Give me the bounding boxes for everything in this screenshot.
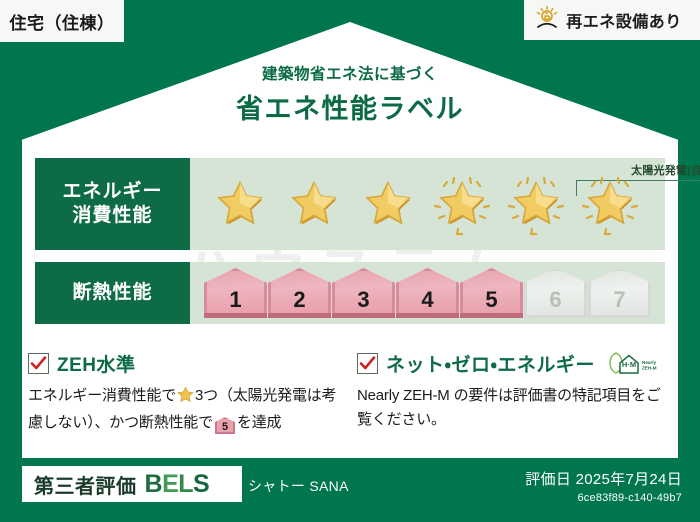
svg-text:ZEH-M: ZEH-M: [642, 365, 657, 370]
note-zeh-title: ZEH水準: [57, 350, 136, 377]
insulation-grade-4: 4: [396, 268, 459, 318]
document-id: 6ce83f89-c140-49b7: [525, 492, 682, 504]
note-zeh-header: ZEH水準: [28, 350, 343, 377]
insulation-grade-group: 1234567: [190, 262, 651, 324]
bels-logo: BELS: [145, 470, 210, 499]
energy-label-line2: 消費性能: [72, 204, 152, 228]
note-zeh-body-pre: エネルギー消費性能で: [28, 387, 176, 404]
note-zeh-body-post: を達成: [237, 414, 281, 431]
evaluation-date-value: 2025年7月24日: [576, 471, 682, 488]
energy-star-icon: [204, 168, 276, 240]
energy-performance-label: エネルギー 消費性能: [35, 158, 190, 250]
checkmark-icon: [28, 353, 49, 374]
renewable-energy-badge: 再エネ設備あり: [524, 0, 700, 40]
solar-star-icon: [500, 168, 572, 240]
footer-meta: 評価日 2025年7月24日 6ce83f89-c140-49b7: [525, 468, 682, 504]
solar-star-icon: [426, 168, 498, 240]
third-party-eval-label: 第三者評価: [34, 470, 137, 499]
note-zeh-body: エネルギー消費性能で3つ（太陽光発電は考慮しない）、かつ断熱性能で5を達成: [28, 384, 343, 436]
insulation-label-text: 断熱性能: [72, 281, 152, 305]
inline-house-grade-icon: 5: [215, 417, 235, 434]
energy-star-icon: [352, 168, 424, 240]
energy-label-line1: エネルギー: [62, 180, 162, 204]
label-main-title: 省エネ性能ラベル: [0, 87, 700, 126]
building-type-tag: 住宅（住棟）: [0, 0, 124, 42]
note-nze-body: Nearly ZEH-M の要件は評価書の特記項目をご覧ください。: [357, 384, 672, 433]
energy-performance-row: エネルギー 消費性能 太陽光発電(自家消費)分: [35, 158, 665, 250]
energy-star-track: 太陽光発電(自家消費)分: [190, 158, 665, 250]
energy-stars-group: [190, 158, 646, 250]
note-nze-title: ネット・ゼロ・エネルギー: [386, 350, 595, 377]
energy-star-icon: [278, 168, 350, 240]
renewable-badge-label: 再エネ設備あり: [566, 8, 682, 32]
checkmark-icon: [357, 353, 378, 374]
evaluation-date: 評価日 2025年7月24日: [525, 468, 682, 489]
note-net-zero-energy: ネット・ゼロ・エネルギー H·M Nearly ZEH-M Nearly ZEH…: [357, 350, 672, 436]
nearly-zeh-m-house-logo: H·M Nearly ZEH-M: [607, 351, 659, 377]
insulation-grade-track: 1234567: [190, 262, 665, 324]
svg-text:H·M: H·M: [622, 360, 636, 369]
inline-star-icon: [177, 390, 194, 407]
note-zeh-standard: ZEH水準 エネルギー消費性能で3つ（太陽光発電は考慮しない）、かつ断熱性能で5…: [28, 350, 343, 436]
notes-section: ZEH水準 エネルギー消費性能で3つ（太陽光発電は考慮しない）、かつ断熱性能で5…: [28, 350, 672, 436]
label-subtitle: 建築物省エネ法に基づく: [0, 62, 700, 84]
insulation-grade-3: 3: [332, 268, 395, 318]
insulation-performance-label: 断熱性能: [35, 262, 190, 324]
evaluation-date-label: 評価日: [525, 471, 571, 488]
insulation-grade-2: 2: [268, 268, 331, 318]
insulation-grade-7: 7: [588, 268, 651, 318]
energy-label-root: 住宅（住棟） 再エネ設備あり 建築物省エネ法に基づく 省エネ性能ラベル ハウ: [0, 0, 700, 522]
insulation-grade-1: 1: [204, 268, 267, 318]
insulation-grade-6: 6: [524, 268, 587, 318]
property-name: シャトー SANA: [248, 476, 349, 496]
label-title-block: 建築物省エネ法に基づく 省エネ性能ラベル: [0, 62, 700, 126]
insulation-performance-row: 断熱性能 1234567: [35, 262, 665, 324]
building-type-tag-label: 住宅（住棟）: [10, 9, 115, 34]
bels-footer-plate: 第三者評価 BELS: [22, 466, 242, 502]
insulation-grade-5: 5: [460, 268, 523, 318]
solar-star-icon: [574, 168, 646, 240]
sun-renewable-icon: [534, 5, 560, 36]
note-nze-header: ネット・ゼロ・エネルギー H·M Nearly ZEH-M: [357, 350, 672, 377]
svg-text:Nearly: Nearly: [642, 360, 656, 365]
